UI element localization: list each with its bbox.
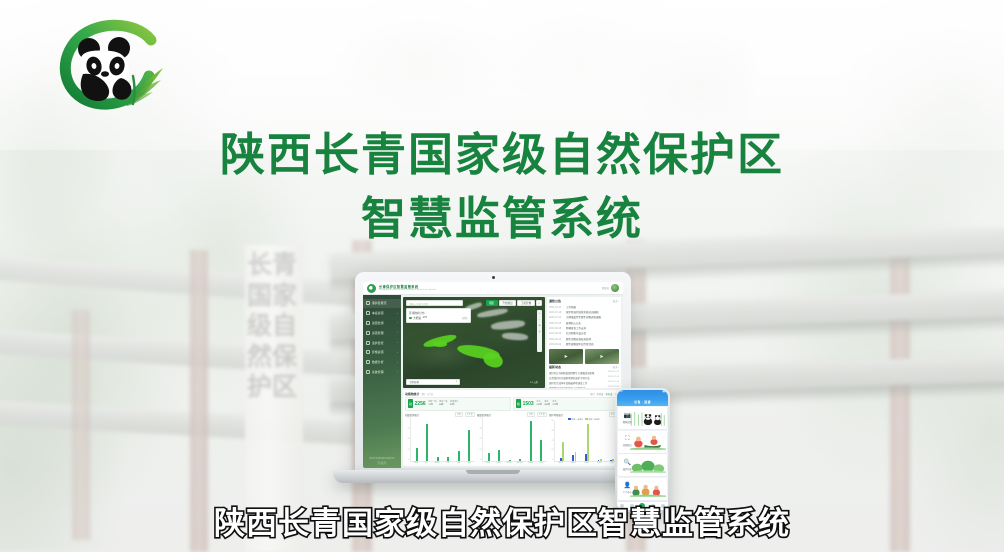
bar-group (505, 418, 515, 461)
bar-group (537, 418, 547, 461)
notice-text: 保护区巡护监管系统培训通知 (566, 310, 599, 314)
list-item[interactable]: 2023-07-21 工作简报 (549, 305, 619, 309)
notice-date: 2023-07-12 (549, 316, 564, 319)
search-placeholder: 请输入关键字搜索 (409, 302, 428, 306)
species-count: 275 (423, 316, 427, 319)
notice-title: 通知公告 (549, 299, 561, 303)
resources-icon (366, 311, 370, 315)
dashboard: 长青保护区智慧监管系统 Changqing Nature Reserve Int… (363, 282, 623, 468)
patrol-icon (366, 341, 370, 345)
user-name: 管理员 (602, 286, 609, 290)
news-header: 最新动态 更多 › (549, 365, 619, 369)
sidebar-item-imagery[interactable]: 影像资源 › (363, 348, 401, 357)
kpi-value: 87种 (450, 404, 458, 407)
x-tick-label: 金丝猴 (432, 462, 442, 464)
bar (540, 440, 542, 461)
bar-group (526, 418, 536, 461)
panda-bamboo-logo (55, 18, 175, 113)
list-item[interactable]: 2023-07-12 大熊猫及伴生野生动物调查通报 (549, 315, 619, 319)
sidebar: 保护区概况 本底资源 › 资源监测 › (363, 295, 401, 468)
phone-card-list: 📷 物种识别 (617, 406, 669, 502)
news-time: 2023-07-11 (608, 381, 619, 385)
laptop-screen: 长青保护区智慧监管系统 Changqing Nature Reserve Int… (363, 282, 623, 468)
avatar[interactable] (611, 284, 619, 292)
map-view[interactable]: 请输入关键字搜索 区域物种分布 大熊猫 275 详情 › (403, 297, 545, 388)
screenshot-stage: 长青国家级自然保护区 (0, 0, 1004, 552)
video-thumbnail[interactable] (585, 349, 619, 364)
bar (488, 453, 490, 461)
sidebar-item-analytics[interactable]: 数据分析 › (363, 358, 401, 367)
sidebar-footer: 陕西长青国家级自然保护区 管理局 (363, 457, 401, 465)
bar-group (495, 418, 505, 461)
bar-group (465, 418, 475, 461)
bar-group (516, 418, 526, 461)
gear-icon (366, 370, 370, 374)
chevron-right-icon: › (397, 361, 398, 364)
bar-group (594, 421, 606, 461)
kpi-value: 725种 (552, 404, 558, 407)
plant-badge-icon: 植 (516, 399, 521, 408)
x-tick-label: 实验区 (581, 462, 593, 464)
list-item[interactable]: 华阳管护站开展森林防火宣传活动 2023-07-08 (549, 386, 619, 387)
panda-illustration (630, 407, 666, 429)
x-axis: 核心区缓冲区实验区外围区其他 (554, 462, 619, 464)
chevron-right-icon: › (397, 321, 398, 324)
map-scale-label: 5.0 公里 (530, 380, 538, 384)
card-label: 物种识别 (620, 420, 634, 424)
notice-text: 红外相机布设方案 (566, 331, 586, 335)
search-icon: 🔍 (620, 460, 634, 467)
bar-series (554, 421, 619, 462)
bar (519, 459, 521, 461)
map-satellite-button[interactable]: 卫星影像 (517, 300, 534, 306)
kpi-animals: 动 2256 国家一级 12种 国家 (405, 397, 511, 411)
bar-group (454, 418, 464, 461)
map-measure-button[interactable]: 测距 (486, 300, 498, 306)
notice-text: 物种普查工作安排 (566, 326, 586, 330)
animal-badge-icon: 动 (408, 399, 413, 408)
notice-date: 2023-07-18 (549, 311, 564, 314)
chart-animal-monitoring: 动物监测统计 全部 本年度 604 (405, 412, 475, 464)
bar (447, 457, 449, 461)
x-tick-label: 红豆杉 (483, 462, 493, 464)
info-card-row: 大熊猫 275 详情 › (409, 316, 468, 320)
bar (498, 450, 500, 461)
chart-protection-level: 保护等级统计 本年度 国家一级保护 国家二级保护 (549, 412, 619, 464)
news-text: 华阳管护站开展森林防火宣传活动 (549, 386, 606, 387)
bar (468, 430, 470, 461)
news-time: 2023-07-08 (608, 386, 619, 387)
charts-row: 动物监测统计 全部 本年度 604 (405, 412, 619, 464)
map-fullscreen-icon[interactable]: ⛶ (536, 300, 542, 306)
sidebar-item-label: 资源管理 (372, 331, 384, 335)
notice-header: 通知公告 更多 › (549, 299, 619, 303)
stats-panel: 动植物统计 (种) 近7日 本月 本季度 本年度 全部 (403, 390, 621, 466)
phone-card-patrol-log[interactable]: 🔍 巡护记录 (618, 454, 667, 476)
sidebar-item-monitoring[interactable]: 资源监测 › (363, 319, 401, 328)
status-time: 9:41 (620, 391, 624, 393)
notice-date: 2023-06-14 (549, 338, 564, 341)
top-row: 请输入关键字搜索 区域物种分布 大熊猫 275 详情 › (403, 297, 621, 388)
map-buttons: 测距 开启图层 卫星影像 ⛶ (486, 300, 542, 306)
video-thumbnail[interactable] (549, 349, 583, 364)
user-icon: 👤 (620, 483, 634, 490)
notice-more-link[interactable]: 更多 › (613, 299, 619, 303)
chevron-down-icon: ▾ (456, 380, 457, 383)
sidebar-item-label: 数据分析 (372, 360, 384, 364)
chevron-right-icon: › (397, 312, 398, 315)
camera-icon: 📷 (620, 413, 634, 420)
video-caption: 陕西长青国家级自然保护区智慧监管系统 (0, 498, 1004, 543)
info-card-more[interactable]: 详情 › (462, 316, 468, 320)
phone-screen: 9:41 ▮▮▮ 长青 · 巡查 📷 物种识别 (617, 390, 669, 511)
kpi-value: 412种 (536, 404, 542, 407)
chart-filter[interactable]: 全部 (527, 412, 535, 417)
news-text: 长青保护区开展夏季野外巡护专项行动 (549, 376, 606, 380)
bar (416, 448, 418, 461)
chevron-right-icon: › (397, 370, 398, 373)
chart-filter[interactable]: 本年度 (537, 412, 547, 417)
sidebar-item-system[interactable]: 系统管理 › (363, 367, 401, 376)
sidebar-item-label: 保护区概况 (372, 301, 387, 305)
notice-list: 2023-07-21 工作简报 2023-07-18 保护区巡护监管系统培训通知 (549, 305, 619, 347)
sidebar-item-label: 系统管理 (372, 370, 384, 374)
card-label: 扫码登记 (620, 443, 634, 447)
info-card-title: 区域物种分布 (409, 311, 468, 315)
map-layers-button[interactable]: 开启图层 (499, 300, 516, 306)
x-axis: 大熊猫羚牛金丝猴黑熊林麝豹猫 (410, 462, 475, 464)
species-dot-icon (409, 317, 412, 320)
webcam-icon (492, 276, 495, 279)
bar-group (444, 418, 454, 461)
bar (509, 460, 511, 461)
compass-icon[interactable]: ◎ (538, 330, 540, 333)
chart-filter[interactable]: 全部 (455, 412, 463, 417)
chart-title: 保护等级统计 (549, 413, 563, 417)
kpi-value: 366种 (544, 404, 550, 407)
dashboard-header: 长青保护区智慧监管系统 Changqing Nature Reserve Int… (363, 282, 623, 295)
sidebar-item-label: 巡护监管 (372, 341, 384, 345)
status-icons: ▮▮▮ (662, 391, 665, 393)
list-item[interactable]: 保护区红外相机拍摄到野生大熊猫活动影像 2023-07-20 (549, 371, 619, 375)
bar (575, 452, 577, 461)
bar-group (556, 421, 568, 461)
stats-unit: (种) (421, 392, 425, 396)
locate-icon[interactable]: ⊕ (538, 324, 540, 327)
news-text: 保护区完成本年度植被样地调查工作 (549, 381, 606, 385)
chevron-right-icon: › (397, 351, 398, 354)
list-item[interactable]: 2023-06-02 野生植物保护宣传月活动 (549, 342, 619, 346)
bar (458, 451, 460, 461)
chevron-right-icon: › (397, 331, 398, 334)
management-icon (366, 331, 370, 335)
notice-text: 工作简报 (566, 305, 576, 309)
zoom-out-icon[interactable]: − (539, 318, 540, 321)
bar (562, 442, 564, 461)
bar-series (482, 418, 547, 462)
bar (587, 424, 589, 461)
phone-mockup: 9:41 ▮▮▮ 长青 · 巡查 📷 物种识别 (615, 388, 670, 512)
monitoring-icon (366, 321, 370, 325)
analytics-icon (366, 360, 370, 364)
hero-title-line1: 陕西长青国家级自然保护区 (0, 126, 1004, 184)
forest-illustration (630, 454, 666, 476)
x-tick-label: 核心区 (555, 462, 567, 464)
sidebar-item-label: 本底资源 (372, 311, 384, 315)
sidebar-item-patrol[interactable]: 巡护监管 › (363, 338, 401, 347)
phone-card-scan[interactable]: ⛶ 扫码登记 (618, 431, 667, 453)
x-tick-label: 大熊猫 (411, 462, 421, 464)
tab-quarter[interactable]: 本季度 (597, 392, 604, 396)
bar-group (581, 421, 593, 461)
habitat-polygon[interactable] (481, 350, 505, 370)
x-tick-label: 黑熊 (443, 462, 453, 464)
hero-title: 陕西长青国家级自然保护区 智慧监管系统 (0, 126, 1004, 248)
animal-breakdown: 国家一级 12种 国家二级 46种 (428, 401, 458, 407)
news-more-link[interactable]: 更多 › (613, 365, 619, 369)
tab-year[interactable]: 本年度 (605, 392, 612, 396)
user-area[interactable]: 管理员 (602, 284, 619, 292)
chart-filter[interactable]: 本年度 (465, 412, 475, 417)
notice-text: 野生植物保护宣传月活动 (566, 342, 594, 346)
bar (600, 459, 602, 461)
laptop-mockup: 长青保护区智慧监管系统 Changqing Nature Reserve Int… (333, 272, 653, 508)
chart-plant-monitoring: 植物监测统计 全部 本年度 503 (477, 412, 547, 464)
list-item[interactable]: 保护区完成本年度植被样地调查工作 2023-07-11 (549, 381, 619, 385)
x-tick-label: 秦岭冷杉 (515, 462, 525, 464)
ranger-boat-illustration (630, 431, 666, 453)
bar-group (412, 418, 422, 461)
list-item[interactable]: 2023-06-14 野生动物疫源疫病监测 (549, 337, 619, 341)
list-item[interactable]: 2023-06-20 红外相机布设方案 (549, 331, 619, 335)
phone-status-bar: 9:41 ▮▮▮ (617, 391, 669, 393)
news-text: 保护区红外相机拍摄到野生大熊猫活动影像 (549, 371, 606, 375)
bar (426, 424, 428, 461)
news-time: 2023-07-20 (608, 371, 619, 375)
bar-series (410, 418, 475, 462)
chevron-right-icon: › (397, 341, 398, 344)
list-item[interactable]: 2023-07-18 保护区巡护监管系统培训通知 (549, 310, 619, 314)
dashboard-content: 请输入关键字搜索 区域物种分布 大熊猫 275 详情 › (401, 295, 623, 468)
habitat-polygon[interactable] (433, 341, 447, 346)
map-layer-select[interactable]: 卫星影像 ▾ (406, 379, 460, 385)
hero-title-line2: 智慧监管系统 (0, 190, 1004, 248)
card-label: 巡护记录 (620, 467, 634, 471)
kpi-row: 动 2256 国家一级 12种 国家 (405, 397, 619, 411)
phone-app-header: 9:41 ▮▮▮ 长青 · 巡查 (617, 390, 669, 406)
dashboard-titles: 长青保护区智慧监管系统 Changqing Nature Reserve Int… (379, 285, 436, 292)
x-tick-label: 独叶草 (504, 462, 514, 464)
x-tick-label: 连香树 (494, 462, 504, 464)
chart-title: 植物监测统计 (477, 413, 491, 417)
video-thumbnails (549, 349, 619, 364)
news-list: 保护区红外相机拍摄到野生大熊猫活动影像 2023-07-20 长青保护区开展夏季… (549, 371, 619, 388)
plant-count: 1503 (523, 401, 534, 407)
notice-text: 大熊猫及伴生野生动物调查通报 (566, 315, 601, 319)
bar-group (433, 418, 443, 461)
notice-date: 2023-07-05 (549, 322, 564, 325)
phone-app-title: 长青 · 巡查 (634, 400, 651, 404)
sidebar-item-resources[interactable]: 本底资源 › (363, 309, 401, 318)
x-tick-label: 华山松 (536, 462, 546, 464)
chart-plot: 604530150 (405, 418, 475, 462)
x-tick-label: 外围区 (593, 462, 605, 464)
sidebar-item-overview[interactable]: 保护区概况 (363, 299, 401, 308)
sidebar-item-management[interactable]: 资源管理 › (363, 328, 401, 337)
x-tick-label: 林麝 (454, 462, 464, 464)
x-tick-label: 羚牛 (422, 462, 432, 464)
stats-note: 近7日 (427, 392, 433, 396)
notice-text: 野生动物疫源疫病监测 (566, 337, 591, 341)
kpi-value: 46种 (439, 404, 447, 407)
tab-month[interactable]: 本月 (590, 392, 595, 396)
phone-card-species-id[interactable]: 📷 物种识别 (618, 407, 667, 429)
sidebar-footer-line1: 陕西长青国家级自然保护区 (363, 457, 401, 460)
chart-title: 动物监测统计 (405, 413, 419, 417)
phone-card-profile[interactable]: 👤 个人中心 (618, 478, 667, 500)
rangers-illustration (630, 478, 666, 500)
chart-plot: 503825130 (477, 418, 547, 462)
list-item[interactable]: 2023-06-28 物种普查工作安排 (549, 326, 619, 330)
plant-breakdown: 乔木 412种 灌木 366种 (536, 401, 558, 407)
dashboard-title-en: Changqing Nature Reserve Intelligent Sup… (379, 289, 436, 292)
layer-select-value: 卫星影像 (409, 380, 419, 384)
laptop-base (333, 470, 653, 483)
stats-title: 动植物统计 (405, 392, 419, 396)
map-info-card: 区域物种分布 大熊猫 275 详情 › (406, 308, 471, 323)
animal-count: 2256 (415, 401, 426, 407)
card-label: 个人中心 (620, 490, 634, 494)
species-name: 大熊猫 (413, 316, 421, 320)
sidebar-item-label: 资源监测 (372, 321, 384, 325)
laptop-lid: 长青保护区智慧监管系统 Changqing Nature Reserve Int… (355, 272, 631, 474)
bar (612, 459, 614, 461)
chart-plot: 503825130 (549, 421, 619, 462)
news-time: 2023-07-16 (608, 376, 619, 380)
bar-group (484, 418, 494, 461)
notice-date: 2023-06-28 (549, 327, 564, 330)
sidebar-item-label: 影像资源 (372, 350, 384, 354)
bar (530, 421, 532, 461)
notice-panel: 通知公告 更多 › 2023-07-21 工作简报 (547, 297, 621, 388)
kpi-plants: 植 1503 乔木 412种 灌木 (513, 397, 619, 411)
x-tick-label: 缓冲区 (568, 462, 580, 464)
x-axis: 红豆杉连香树独叶草秦岭冷杉庙台槭华山松 (482, 462, 547, 464)
dashboard-logo-icon (367, 284, 376, 293)
notice-text: 森林防火公告 (566, 321, 581, 325)
dashboard-body: 保护区概况 本底资源 › 资源监测 › (363, 295, 623, 468)
kpi-value: 12种 (428, 404, 436, 407)
x-tick-label: 豹猫 (464, 462, 474, 464)
x-tick-label: 庙台槭 (526, 462, 536, 464)
news-title: 最新动态 (549, 365, 561, 369)
list-item[interactable]: 长青保护区开展夏季野外巡护专项行动 2023-07-16 (549, 376, 619, 380)
notice-date: 2023-07-21 (549, 306, 564, 309)
bar-group (569, 421, 581, 461)
zoom-in-icon[interactable]: + (539, 312, 540, 315)
bar-group (423, 418, 433, 461)
list-item[interactable]: 2023-07-05 森林防火公告 (549, 321, 619, 325)
map-zoom-controls[interactable]: + − ⊕ ◎ (537, 310, 542, 352)
stats-header: 动植物统计 (种) 近7日 本月 本季度 本年度 全部 (405, 392, 619, 396)
notice-date: 2023-06-02 (549, 343, 564, 346)
map-search-input[interactable]: 请输入关键字搜索 (406, 300, 463, 306)
imagery-icon (366, 350, 370, 354)
bar (437, 457, 439, 461)
sidebar-footer-line2: 管理局 (363, 461, 401, 465)
overview-icon (366, 301, 370, 305)
bar (572, 455, 574, 461)
notice-date: 2023-06-20 (549, 332, 564, 335)
scan-icon: ⛶ (620, 436, 634, 443)
